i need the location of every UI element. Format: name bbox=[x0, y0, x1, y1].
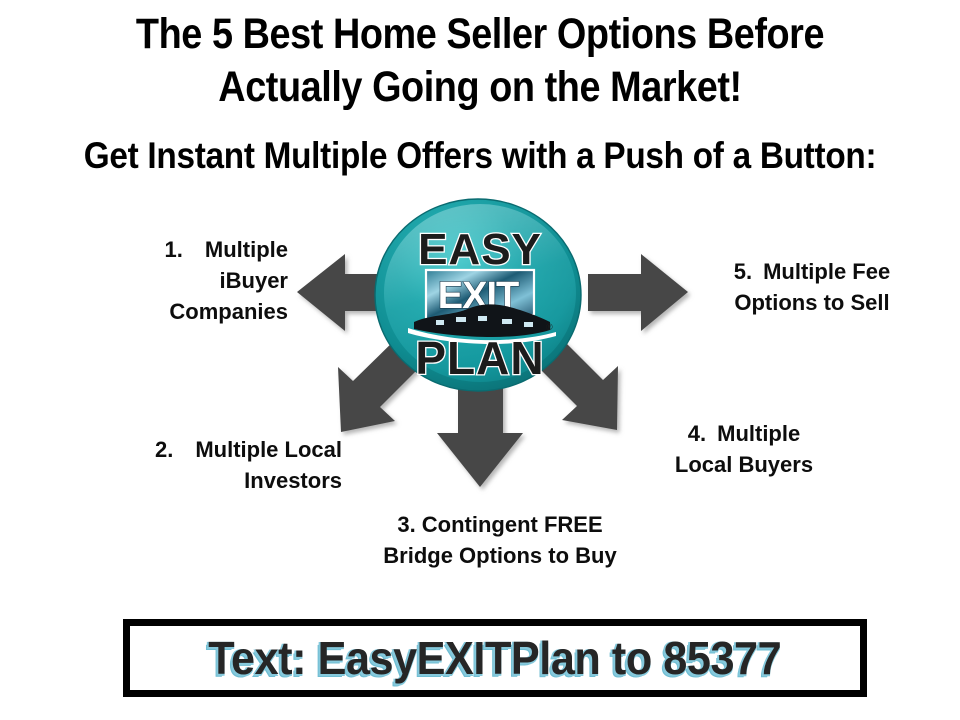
logo-word-plan: PLAN bbox=[415, 332, 544, 384]
easy-exit-plan-logo: EASY EXIT ® PLAN bbox=[374, 196, 586, 392]
callout-option-5: 5. Multiple Fee Options to Sell bbox=[686, 256, 938, 318]
arrow-to-option-5-shape bbox=[588, 254, 688, 331]
callout-option-3: 3. Contingent FREE Bridge Options to Buy bbox=[330, 509, 670, 571]
cta-box: Text: EasyEXITPlan to 85377 bbox=[123, 619, 867, 697]
subheadline-text: Get Instant Multiple Offers with a Push … bbox=[48, 133, 912, 179]
callout-option-4: 4. Multiple Local Buyers bbox=[634, 418, 854, 480]
registered-mark: ® bbox=[546, 322, 553, 332]
logo-word-easy: EASY bbox=[418, 225, 542, 274]
callout-option-2: 2. Multiple Local Investors bbox=[60, 434, 342, 496]
arrow-to-option-3-shape bbox=[437, 380, 523, 487]
page-title: The 5 Best Home Seller Options Before Ac… bbox=[0, 8, 960, 114]
cta-text: Text: EasyEXITPlan to 85377 bbox=[209, 632, 782, 684]
slide-canvas: The 5 Best Home Seller Options Before Ac… bbox=[0, 0, 960, 720]
headline-line-2: Actually Going on the Market! bbox=[58, 61, 903, 114]
page-subtitle: Get Instant Multiple Offers with a Push … bbox=[0, 133, 960, 179]
callout-option-1: 1. Multiple iBuyer Companies bbox=[60, 234, 288, 327]
headline-line-1: The 5 Best Home Seller Options Before bbox=[58, 8, 903, 61]
